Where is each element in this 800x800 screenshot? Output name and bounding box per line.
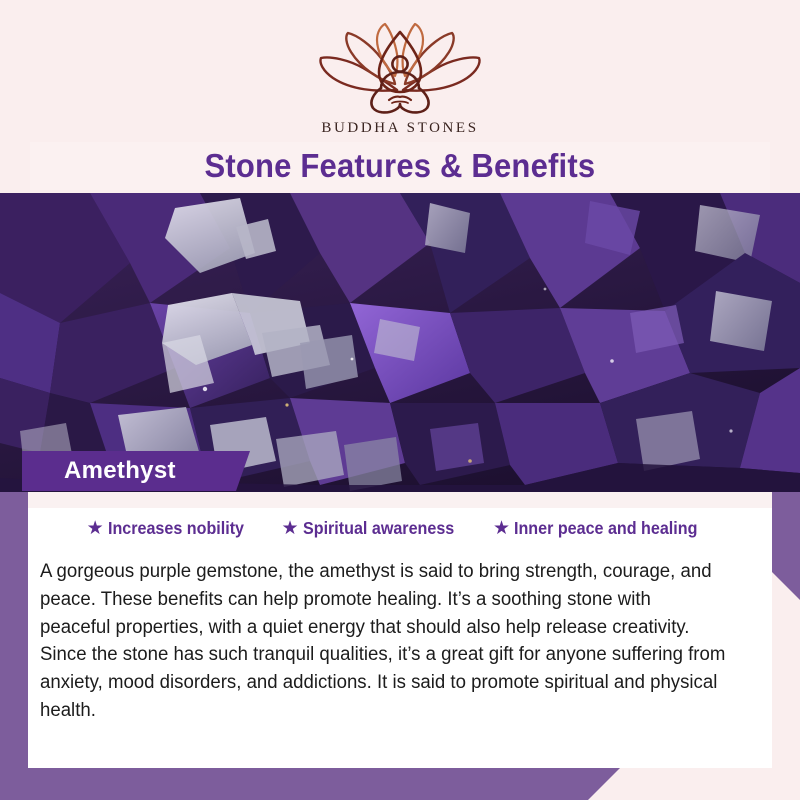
- stone-name-label: Amethyst: [64, 457, 176, 485]
- description-paragraph: A gorgeous purple gemstone, the amethyst…: [40, 558, 726, 725]
- feature-label: Spiritual awareness: [303, 518, 454, 539]
- infographic-page: BUDDHA STONES Stone Features & Benefits: [0, 0, 800, 800]
- brand-name: BUDDHA STONES: [321, 120, 478, 137]
- header-section: BUDDHA STONES Stone Features & Benefits: [0, 0, 800, 193]
- amethyst-crystal-cluster-photo: [0, 193, 800, 492]
- crystal-texture: [0, 193, 800, 492]
- list-item: ★ Increases nobility: [87, 518, 256, 539]
- star-icon: ★: [493, 519, 510, 538]
- decorative-band-left: [0, 492, 28, 800]
- feature-label: Increases nobility: [108, 518, 244, 539]
- page-title: Stone Features & Benefits: [205, 147, 596, 185]
- content-panel: ★ Increases nobility ★ Spiritual awarene…: [28, 492, 772, 768]
- title-bar: Stone Features & Benefits: [30, 142, 770, 190]
- list-item: ★ Spiritual awareness: [282, 518, 467, 539]
- feature-label: Inner peace and healing: [514, 518, 697, 539]
- panel-top-tint: [28, 492, 772, 508]
- lotus-meditation-figure-icon: [315, 18, 485, 118]
- feature-list: ★ Increases nobility ★ Spiritual awarene…: [28, 518, 772, 539]
- decorative-band-bottom: [0, 768, 620, 800]
- stone-name-banner: Amethyst: [22, 451, 250, 491]
- star-icon: ★: [282, 519, 299, 538]
- star-icon: ★: [87, 519, 104, 538]
- brand-logo: BUDDHA STONES: [0, 18, 800, 137]
- list-item: ★ Inner peace and healing: [493, 518, 713, 539]
